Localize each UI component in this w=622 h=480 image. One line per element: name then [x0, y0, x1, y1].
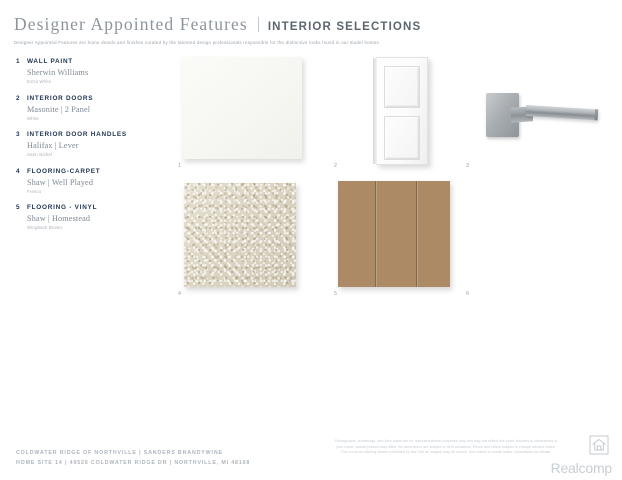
disclaimer-line-3: This is not an offering where prohibited… — [312, 450, 580, 455]
page-footer: COLDWATER RIDGE OF NORTHVILLE | SANDERS … — [0, 428, 622, 480]
list-item: 1 WALL PAINT Sherwin Williams Extra Whit… — [16, 57, 171, 85]
list-item-color: Wingback Brown — [27, 224, 171, 231]
community-address: COLDWATER RIDGE OF NORTHVILLE | SANDERS … — [16, 449, 250, 468]
door-panel-upper — [384, 66, 420, 108]
vinyl-texture — [338, 181, 450, 287]
list-item-title: FLOORING-CARPET — [27, 167, 100, 176]
swatch-vinyl — [338, 181, 450, 287]
white-two-panel-door-image — [373, 57, 431, 165]
swatch-caption-4: 4 — [178, 291, 181, 297]
list-item-title: FLOORING - VINYL — [27, 203, 97, 212]
list-item-heading: 1 WALL PAINT — [16, 57, 171, 66]
list-item-color: White — [27, 115, 171, 122]
swatch-caption-6: 6 — [466, 291, 469, 297]
empty-swatch-slot — [468, 181, 580, 287]
swatch-caption-1: 1 — [178, 163, 181, 169]
white-paint-swatch — [182, 57, 302, 159]
list-item-heading: 4 FLOORING-CARPET — [16, 167, 171, 176]
list-item-brand: Shaw | Well Played — [27, 177, 171, 188]
page-header: Designer Appointed Features INTERIOR SEL… — [14, 14, 608, 45]
list-item-color: Fresco — [27, 188, 171, 195]
list-item-number: 4 — [16, 167, 27, 176]
list-item-brand: Halifax | Lever — [27, 140, 171, 151]
selections-sheet: Designer Appointed Features INTERIOR SEL… — [0, 0, 622, 480]
list-item-number: 2 — [16, 94, 27, 103]
list-item-heading: 5 FLOORING - VINYL — [16, 203, 171, 212]
page-subtitle-heading: INTERIOR SELECTIONS — [268, 21, 421, 33]
swatch-grid: 1 2 3 4 — [178, 57, 608, 297]
page-title: Designer Appointed Features — [14, 14, 248, 35]
address-line-1: COLDWATER RIDGE OF NORTHVILLE | SANDERS … — [16, 449, 250, 459]
list-item-color: Satin Nickel — [27, 151, 171, 158]
title-row: Designer Appointed Features INTERIOR SEL… — [14, 14, 608, 35]
swatch-paint — [182, 57, 302, 159]
list-item-brand: Sherwin Williams — [27, 67, 171, 78]
list-item-number: 3 — [16, 130, 27, 139]
list-item-title: WALL PAINT — [27, 57, 73, 66]
list-item: 4 FLOORING-CARPET Shaw | Well Played Fre… — [16, 167, 171, 195]
handle-lever — [526, 105, 599, 120]
realcomp-watermark: Realcomp — [551, 460, 612, 476]
door-edge — [373, 58, 377, 164]
disclaimer-line-1: Photographs, renderings, and floor plans… — [312, 439, 580, 444]
plank-seam — [375, 181, 376, 287]
beige-carpet-swatch — [184, 183, 296, 287]
legal-disclaimer: Photographs, renderings, and floor plans… — [312, 439, 580, 455]
list-item-color: Extra White — [27, 78, 171, 85]
list-item-number: 1 — [16, 57, 27, 66]
brown-wood-vinyl-plank-swatch — [338, 181, 450, 287]
selections-list: 1 WALL PAINT Sherwin Williams Extra Whit… — [16, 57, 171, 240]
list-item-heading: 3 INTERIOR DOOR HANDLES — [16, 130, 171, 139]
page-description: Designer Appointed Features are home det… — [14, 40, 608, 45]
list-item-brand: Shaw | Homestead — [27, 213, 171, 224]
swatch-handle — [478, 85, 603, 149]
list-item: 5 FLOORING - VINYL Shaw | Homestead Wing… — [16, 203, 171, 231]
door-slab — [376, 57, 428, 165]
door-panel-lower — [384, 116, 420, 160]
list-item-heading: 2 INTERIOR DOORS — [16, 94, 171, 103]
swatch-door — [373, 57, 431, 165]
list-item-number: 5 — [16, 203, 27, 212]
equal-housing-opportunity-icon — [589, 435, 609, 455]
swatch-caption-3: 3 — [466, 163, 469, 169]
list-item-brand: Masonite | 2 Panel — [27, 104, 171, 115]
list-item: 2 INTERIOR DOORS Masonite | 2 Panel Whit… — [16, 94, 171, 122]
carpet-texture — [184, 183, 296, 287]
list-item-title: INTERIOR DOORS — [27, 94, 93, 103]
swatch-caption-2: 2 — [334, 163, 337, 169]
satin-nickel-lever-handle-image — [478, 85, 603, 149]
swatch-caption-5: 5 — [334, 291, 337, 297]
swatch-carpet — [184, 183, 296, 287]
list-item-title: INTERIOR DOOR HANDLES — [27, 130, 127, 139]
title-divider — [258, 17, 259, 32]
plank-seam — [416, 181, 417, 287]
address-line-2: HOME SITE 14 | 49526 COLDWATER RIDGE DR … — [16, 459, 250, 469]
list-item: 3 INTERIOR DOOR HANDLES Halifax | Lever … — [16, 130, 171, 158]
